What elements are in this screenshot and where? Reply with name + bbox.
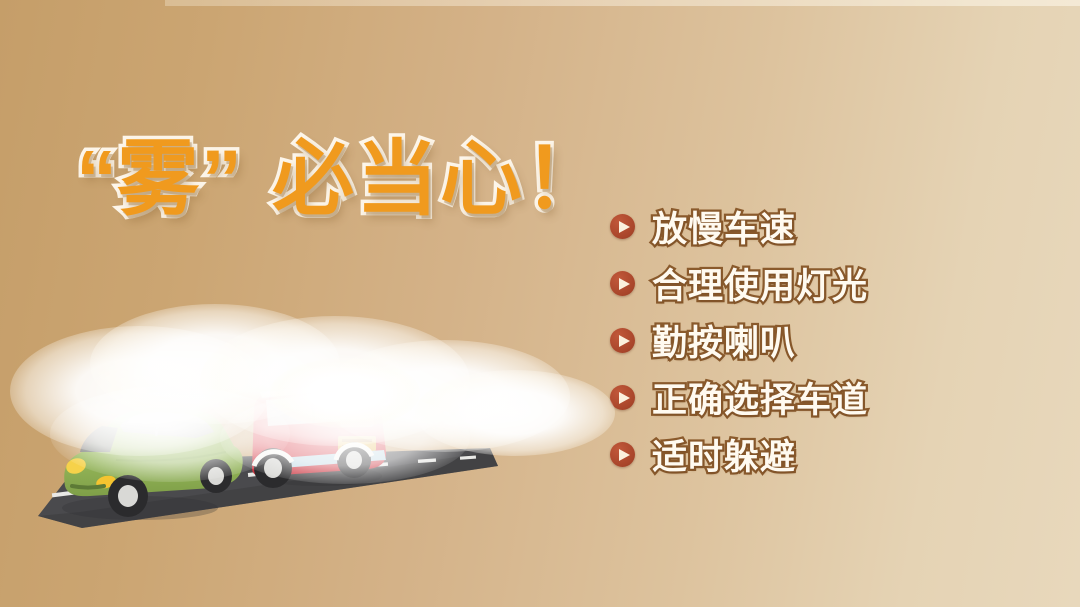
list-item-label: 勤按喇叭 [652,315,796,366]
title-keyword: 雾 [117,134,201,225]
list-item[interactable]: 勤按喇叭 [610,312,1040,369]
title-close-quote: ” [201,134,242,225]
wheel [200,459,232,493]
list-item-label: 适时躲避 [652,429,796,480]
play-triangle-icon [610,328,635,353]
red-van [252,382,386,488]
play-triangle-icon [610,271,635,296]
play-triangle-icon [610,442,635,467]
list-item-label: 合理使用灯光 [652,258,868,309]
list-item[interactable]: 合理使用灯光 [610,255,1040,312]
play-triangle-icon [610,214,635,239]
illustration-svg [20,300,580,560]
tips-list: 放慢车速 合理使用灯光 勤按喇叭 正确选择车道 适时躲避 [610,198,1040,483]
two-cars-in-fog-illustration [20,300,580,560]
slide-canvas: “雾”必当心！ 放慢车速 合理使用灯光 勤按喇叭 正确选择车道 适时躲避 [0,0,1080,607]
title-open-quote: “ [76,134,117,225]
wheel [108,475,148,517]
list-item-label: 正确选择车道 [652,372,868,423]
top-highlight-band [165,0,1080,6]
list-item-label: 放慢车速 [652,201,796,252]
page-title: “雾”必当心！ [76,112,608,231]
list-item[interactable]: 适时躲避 [610,426,1040,483]
title-rest: 必当心！ [272,134,608,225]
list-item[interactable]: 放慢车速 [610,198,1040,255]
list-item[interactable]: 正确选择车道 [610,369,1040,426]
play-triangle-icon [610,385,635,410]
